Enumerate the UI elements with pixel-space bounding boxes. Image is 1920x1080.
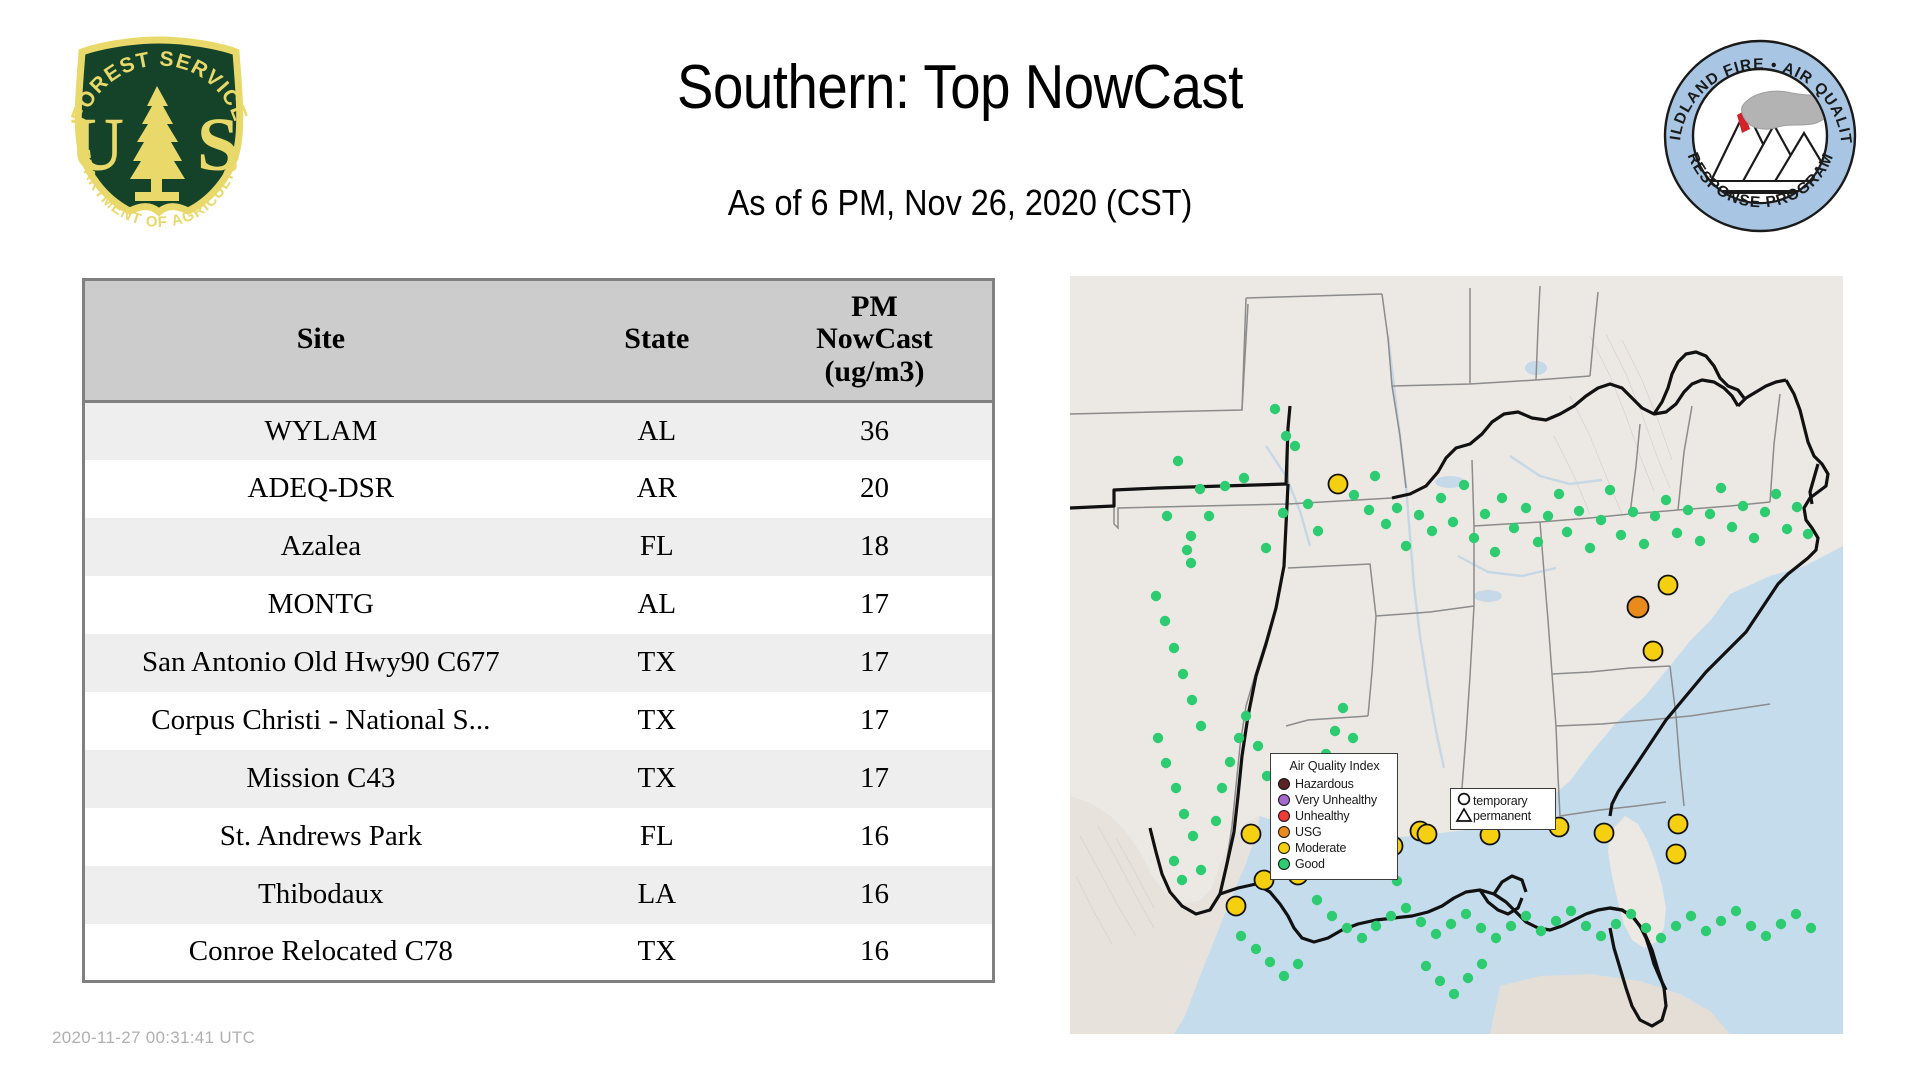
monitor-dot[interactable] xyxy=(1701,926,1711,936)
column-header-pm-line3: (ug/m3) xyxy=(761,356,988,388)
monitor-dot[interactable] xyxy=(1431,929,1441,939)
monitor-dot[interactable] xyxy=(1436,493,1446,503)
state-cell: AR xyxy=(557,460,757,518)
monitor-dot[interactable] xyxy=(1749,533,1759,543)
permanent-triangle-icon xyxy=(1457,809,1471,821)
monitor-dot[interactable] xyxy=(1312,895,1322,905)
monitor-dot[interactable] xyxy=(1270,404,1280,414)
aqi-legend-row: Hazardous xyxy=(1278,776,1391,792)
monitor-dot[interactable] xyxy=(1327,911,1337,921)
monitor-dot[interactable] xyxy=(1261,543,1271,553)
monitor-dot[interactable] xyxy=(1278,508,1288,518)
monitor-dot[interactable] xyxy=(1716,916,1726,926)
aqi-legend-row: USG xyxy=(1278,824,1391,840)
monitor-dot[interactable] xyxy=(1303,499,1313,509)
monitor-dot[interactable] xyxy=(1628,507,1638,517)
monitor-dot[interactable] xyxy=(1196,721,1206,731)
slide-root: FOREST SERVICE DEPARTMENT OF AGRICULTURE… xyxy=(0,0,1920,1080)
monitor-dot[interactable] xyxy=(1776,919,1786,929)
monitor-dot[interactable] xyxy=(1738,501,1748,511)
monitor-dots-usg xyxy=(1628,597,1649,618)
monitor-dot[interactable] xyxy=(1392,503,1402,513)
monitor-dot[interactable] xyxy=(1792,502,1802,512)
monitor-dot[interactable] xyxy=(1716,483,1726,493)
monitor-dot[interactable] xyxy=(1253,741,1263,751)
site-cell: WYLAM xyxy=(84,402,557,460)
air-quality-index-legend: Air Quality Index HazardousVery Unhealth… xyxy=(1270,753,1398,880)
site-cell: MONTG xyxy=(84,576,557,634)
site-type-permanent-label: permanent xyxy=(1473,809,1531,824)
monitor-dot[interactable] xyxy=(1626,909,1636,919)
monitor-dot[interactable] xyxy=(1171,783,1181,793)
monitor-dot[interactable] xyxy=(1782,524,1792,534)
monitor-dot[interactable] xyxy=(1641,923,1651,933)
monitor-dot[interactable] xyxy=(1169,643,1179,653)
monitor-dot[interactable] xyxy=(1616,530,1626,540)
site-cell: Conroe Relocated C78 xyxy=(84,924,557,982)
monitor-dot[interactable] xyxy=(1490,547,1500,557)
aqi-swatch-icon xyxy=(1278,826,1290,838)
monitor-dot[interactable] xyxy=(1349,490,1359,500)
pm-nowcast-cell: 20 xyxy=(757,460,994,518)
table-row[interactable]: St. Andrews ParkFL16 xyxy=(84,808,994,866)
monitor-dot[interactable] xyxy=(1357,933,1367,943)
generation-timestamp: 2020-11-27 00:31:41 UTC xyxy=(52,1028,255,1048)
monitor-dot[interactable] xyxy=(1628,597,1649,618)
pm-nowcast-cell: 17 xyxy=(757,634,994,692)
monitor-dot[interactable] xyxy=(1521,911,1531,921)
table-row[interactable]: MONTGAL17 xyxy=(84,576,994,634)
pm-nowcast-cell: 17 xyxy=(757,576,994,634)
monitor-dot[interactable] xyxy=(1151,591,1161,601)
state-cell: LA xyxy=(557,866,757,924)
monitor-dot[interactable] xyxy=(1477,959,1487,969)
monitor-dot[interactable] xyxy=(1731,906,1741,916)
monitor-dot[interactable] xyxy=(1659,576,1678,595)
monitor-dot[interactable] xyxy=(1211,816,1221,826)
monitor-dot[interactable] xyxy=(1217,783,1227,793)
monitor-dot[interactable] xyxy=(1188,831,1198,841)
site-type-legend: temporary permanent xyxy=(1450,788,1556,830)
southern-region-map[interactable]: Air Quality Index HazardousVery Unhealth… xyxy=(1070,276,1843,1034)
monitor-dot[interactable] xyxy=(1386,911,1396,921)
monitor-dot[interactable] xyxy=(1611,919,1621,929)
pm-nowcast-cell: 16 xyxy=(757,924,994,982)
monitor-dot[interactable] xyxy=(1225,757,1235,767)
state-cell: TX xyxy=(557,634,757,692)
monitor-dot[interactable] xyxy=(1220,481,1230,491)
site-cell: ADEQ-DSR xyxy=(84,460,557,518)
monitor-dot[interactable] xyxy=(1342,923,1352,933)
monitor-dot[interactable] xyxy=(1242,825,1261,844)
monitor-dot[interactable] xyxy=(1435,976,1445,986)
monitor-dot[interactable] xyxy=(1791,909,1801,919)
site-cell: St. Andrews Park xyxy=(84,808,557,866)
monitor-dot[interactable] xyxy=(1533,537,1543,547)
monitor-dot[interactable] xyxy=(1234,733,1244,743)
aqi-legend-rows: HazardousVery UnhealthyUnhealthyUSGModer… xyxy=(1278,776,1391,872)
monitor-dot[interactable] xyxy=(1803,529,1813,539)
monitor-dot[interactable] xyxy=(1160,616,1170,626)
monitor-dot[interactable] xyxy=(1761,931,1771,941)
site-cell: Azalea xyxy=(84,518,557,576)
table-row[interactable]: AzaleaFL18 xyxy=(84,518,994,576)
monitor-dot[interactable] xyxy=(1686,911,1696,921)
monitor-dot[interactable] xyxy=(1239,473,1249,483)
monitor-dot[interactable] xyxy=(1381,519,1391,529)
monitor-dot[interactable] xyxy=(1480,509,1490,519)
temporary-circle-icon xyxy=(1459,794,1470,805)
page-subtitle: As of 6 PM, Nov 26, 2020 (CST) xyxy=(96,182,1824,224)
monitor-dot[interactable] xyxy=(1521,503,1531,513)
monitor-dot[interactable] xyxy=(1543,511,1553,521)
monitor-dot[interactable] xyxy=(1265,957,1275,967)
monitor-dot[interactable] xyxy=(1279,971,1289,981)
monitor-dot[interactable] xyxy=(1667,845,1686,864)
monitor-dot[interactable] xyxy=(1566,906,1576,916)
monitor-dot[interactable] xyxy=(1290,441,1300,451)
monitor-dot[interactable] xyxy=(1656,933,1666,943)
monitor-dot[interactable] xyxy=(1421,961,1431,971)
table-row[interactable]: ADEQ-DSRAR20 xyxy=(84,460,994,518)
pm-nowcast-cell: 16 xyxy=(757,808,994,866)
map-canvas xyxy=(1070,276,1843,1034)
monitor-dot[interactable] xyxy=(1536,926,1546,936)
aqi-legend-row: Unhealthy xyxy=(1278,808,1391,824)
aqi-legend-label: Very Unhealthy xyxy=(1295,793,1377,807)
monitor-dot[interactable] xyxy=(1186,558,1196,568)
monitor-dot[interactable] xyxy=(1293,959,1303,969)
table-header-row: Site State PM NowCast (ug/m3) xyxy=(84,280,994,402)
monitor-dot[interactable] xyxy=(1427,526,1437,536)
monitor-dot[interactable] xyxy=(1330,726,1340,736)
monitor-dot[interactable] xyxy=(1683,505,1693,515)
monitor-dot[interactable] xyxy=(1491,933,1501,943)
monitor-dot[interactable] xyxy=(1177,875,1187,885)
monitor-dot[interactable] xyxy=(1461,909,1471,919)
monitor-dot[interactable] xyxy=(1241,711,1251,721)
monitor-dot[interactable] xyxy=(1551,916,1561,926)
table-row[interactable]: WYLAMAL36 xyxy=(84,402,994,460)
monitor-dot[interactable] xyxy=(1196,865,1206,875)
monitor-dot[interactable] xyxy=(1596,931,1606,941)
monitor-dot[interactable] xyxy=(1672,528,1682,538)
monitor-dot[interactable] xyxy=(1669,815,1688,834)
aqi-swatch-icon xyxy=(1278,842,1290,854)
monitor-dot[interactable] xyxy=(1605,485,1615,495)
site-cell: Mission C43 xyxy=(84,750,557,808)
monitor-dot[interactable] xyxy=(1671,921,1681,931)
monitor-dot[interactable] xyxy=(1161,758,1171,768)
aqi-legend-row: Good xyxy=(1278,856,1391,872)
monitor-dot[interactable] xyxy=(1509,523,1519,533)
monitor-dot[interactable] xyxy=(1153,733,1163,743)
monitor-dot[interactable] xyxy=(1585,543,1595,553)
monitor-dot[interactable] xyxy=(1348,733,1358,743)
table-row[interactable]: ThibodauxLA16 xyxy=(84,866,994,924)
state-cell: AL xyxy=(557,402,757,460)
column-header-pm-nowcast[interactable]: PM NowCast (ug/m3) xyxy=(757,280,994,402)
monitor-dot[interactable] xyxy=(1595,824,1614,843)
pm-nowcast-cell: 17 xyxy=(757,692,994,750)
monitor-dot[interactable] xyxy=(1581,921,1591,931)
monitor-dot[interactable] xyxy=(1596,515,1606,525)
monitor-dot[interactable] xyxy=(1178,669,1188,679)
monitor-dot[interactable] xyxy=(1173,456,1183,466)
site-cell: Thibodaux xyxy=(84,866,557,924)
monitor-dot[interactable] xyxy=(1506,921,1516,931)
monitor-dot[interactable] xyxy=(1661,495,1671,505)
monitor-dot[interactable] xyxy=(1554,489,1564,499)
monitor-dot[interactable] xyxy=(1401,541,1411,551)
pm-nowcast-cell: 18 xyxy=(757,518,994,576)
monitor-dot[interactable] xyxy=(1186,531,1196,541)
table-row[interactable]: San Antonio Old Hwy90 C677TX17 xyxy=(84,634,994,692)
aqi-legend-row: Moderate xyxy=(1278,840,1391,856)
monitor-dot[interactable] xyxy=(1416,917,1426,927)
monitor-dot[interactable] xyxy=(1364,505,1374,515)
aqi-legend-row: Very Unhealthy xyxy=(1278,792,1391,808)
aqi-legend-label: Unhealthy xyxy=(1295,809,1350,823)
monitor-dot[interactable] xyxy=(1650,511,1660,521)
monitor-dot[interactable] xyxy=(1195,484,1205,494)
aqi-legend-label: Moderate xyxy=(1295,841,1346,855)
monitor-dot[interactable] xyxy=(1179,809,1189,819)
monitor-dot[interactable] xyxy=(1806,923,1816,933)
monitor-dot[interactable] xyxy=(1727,522,1737,532)
monitor-dot[interactable] xyxy=(1418,825,1437,844)
monitor-dot[interactable] xyxy=(1313,526,1323,536)
monitor-dot[interactable] xyxy=(1746,921,1756,931)
monitor-dot[interactable] xyxy=(1639,539,1649,549)
state-cell: TX xyxy=(557,924,757,982)
map-lake xyxy=(1474,590,1502,602)
aqi-legend-label: Hazardous xyxy=(1295,777,1354,791)
aqi-swatch-icon xyxy=(1278,858,1290,870)
monitor-dot[interactable] xyxy=(1446,919,1456,929)
page-title: Southern: Top NowCast xyxy=(115,52,1805,123)
aqi-swatch-icon xyxy=(1278,794,1290,806)
monitor-dot[interactable] xyxy=(1476,923,1486,933)
state-cell: TX xyxy=(557,750,757,808)
monitor-dot[interactable] xyxy=(1204,511,1214,521)
monitor-dot[interactable] xyxy=(1162,511,1172,521)
wfaqrp-logo: WILDLAND FIRE • AIR QUALITY RESPONSE PRO… xyxy=(1658,33,1863,238)
monitor-dot[interactable] xyxy=(1695,536,1705,546)
monitor-dot[interactable] xyxy=(1370,471,1380,481)
top-nowcast-table: Site State PM NowCast (ug/m3) WYLAMAL36A… xyxy=(82,278,995,983)
monitor-dot[interactable] xyxy=(1281,431,1291,441)
table-row[interactable]: Conroe Relocated C78TX16 xyxy=(84,924,994,982)
state-cell: FL xyxy=(557,518,757,576)
pm-nowcast-cell: 16 xyxy=(757,866,994,924)
monitor-dot[interactable] xyxy=(1414,510,1424,520)
aqi-legend-label: USG xyxy=(1295,825,1322,839)
state-cell: FL xyxy=(557,808,757,866)
aqi-swatch-icon xyxy=(1278,778,1290,790)
monitor-dot[interactable] xyxy=(1169,856,1179,866)
monitor-dot[interactable] xyxy=(1463,973,1473,983)
monitor-dot[interactable] xyxy=(1449,989,1459,999)
monitor-dot[interactable] xyxy=(1182,545,1192,555)
monitor-dot[interactable] xyxy=(1469,533,1479,543)
column-header-state[interactable]: State xyxy=(557,280,757,402)
table-row[interactable]: Corpus Christi - National S...TX17 xyxy=(84,692,994,750)
aqi-swatch-icon xyxy=(1278,810,1290,822)
monitor-dot[interactable] xyxy=(1574,506,1584,516)
column-header-site[interactable]: Site xyxy=(84,280,557,402)
monitor-dot[interactable] xyxy=(1371,921,1381,931)
monitor-dot[interactable] xyxy=(1227,897,1246,916)
monitor-dot[interactable] xyxy=(1187,695,1197,705)
monitor-dot[interactable] xyxy=(1401,903,1411,913)
table-header: Site State PM NowCast (ug/m3) xyxy=(84,280,994,402)
table-row[interactable]: Mission C43TX17 xyxy=(84,750,994,808)
monitor-dot[interactable] xyxy=(1251,944,1261,954)
monitor-dot[interactable] xyxy=(1448,517,1458,527)
monitor-dot[interactable] xyxy=(1497,493,1507,503)
monitor-dot[interactable] xyxy=(1459,480,1469,490)
column-header-pm-line2: NowCast xyxy=(761,323,988,355)
pm-nowcast-cell: 17 xyxy=(757,750,994,808)
monitor-dot[interactable] xyxy=(1236,931,1246,941)
monitor-dot[interactable] xyxy=(1329,475,1348,494)
monitor-dot[interactable] xyxy=(1562,527,1572,537)
monitor-dot[interactable] xyxy=(1644,642,1663,661)
site-cell: Corpus Christi - National S... xyxy=(84,692,557,750)
monitor-dot[interactable] xyxy=(1705,509,1715,519)
monitor-dot[interactable] xyxy=(1771,489,1781,499)
state-cell: AL xyxy=(557,576,757,634)
column-header-pm-line1: PM xyxy=(761,291,988,323)
site-cell: San Antonio Old Hwy90 C677 xyxy=(84,634,557,692)
aqi-legend-label: Good xyxy=(1295,857,1325,871)
monitor-dot[interactable] xyxy=(1338,703,1348,713)
pm-nowcast-cell: 36 xyxy=(757,402,994,460)
site-type-temporary-label: temporary xyxy=(1473,794,1531,809)
aqi-legend-title: Air Quality Index xyxy=(1278,759,1391,773)
monitor-dot[interactable] xyxy=(1760,507,1770,517)
state-cell: TX xyxy=(557,692,757,750)
table-body: WYLAMAL36ADEQ-DSRAR20AzaleaFL18MONTGAL17… xyxy=(84,402,994,982)
site-type-glyph-icons xyxy=(1455,791,1473,827)
